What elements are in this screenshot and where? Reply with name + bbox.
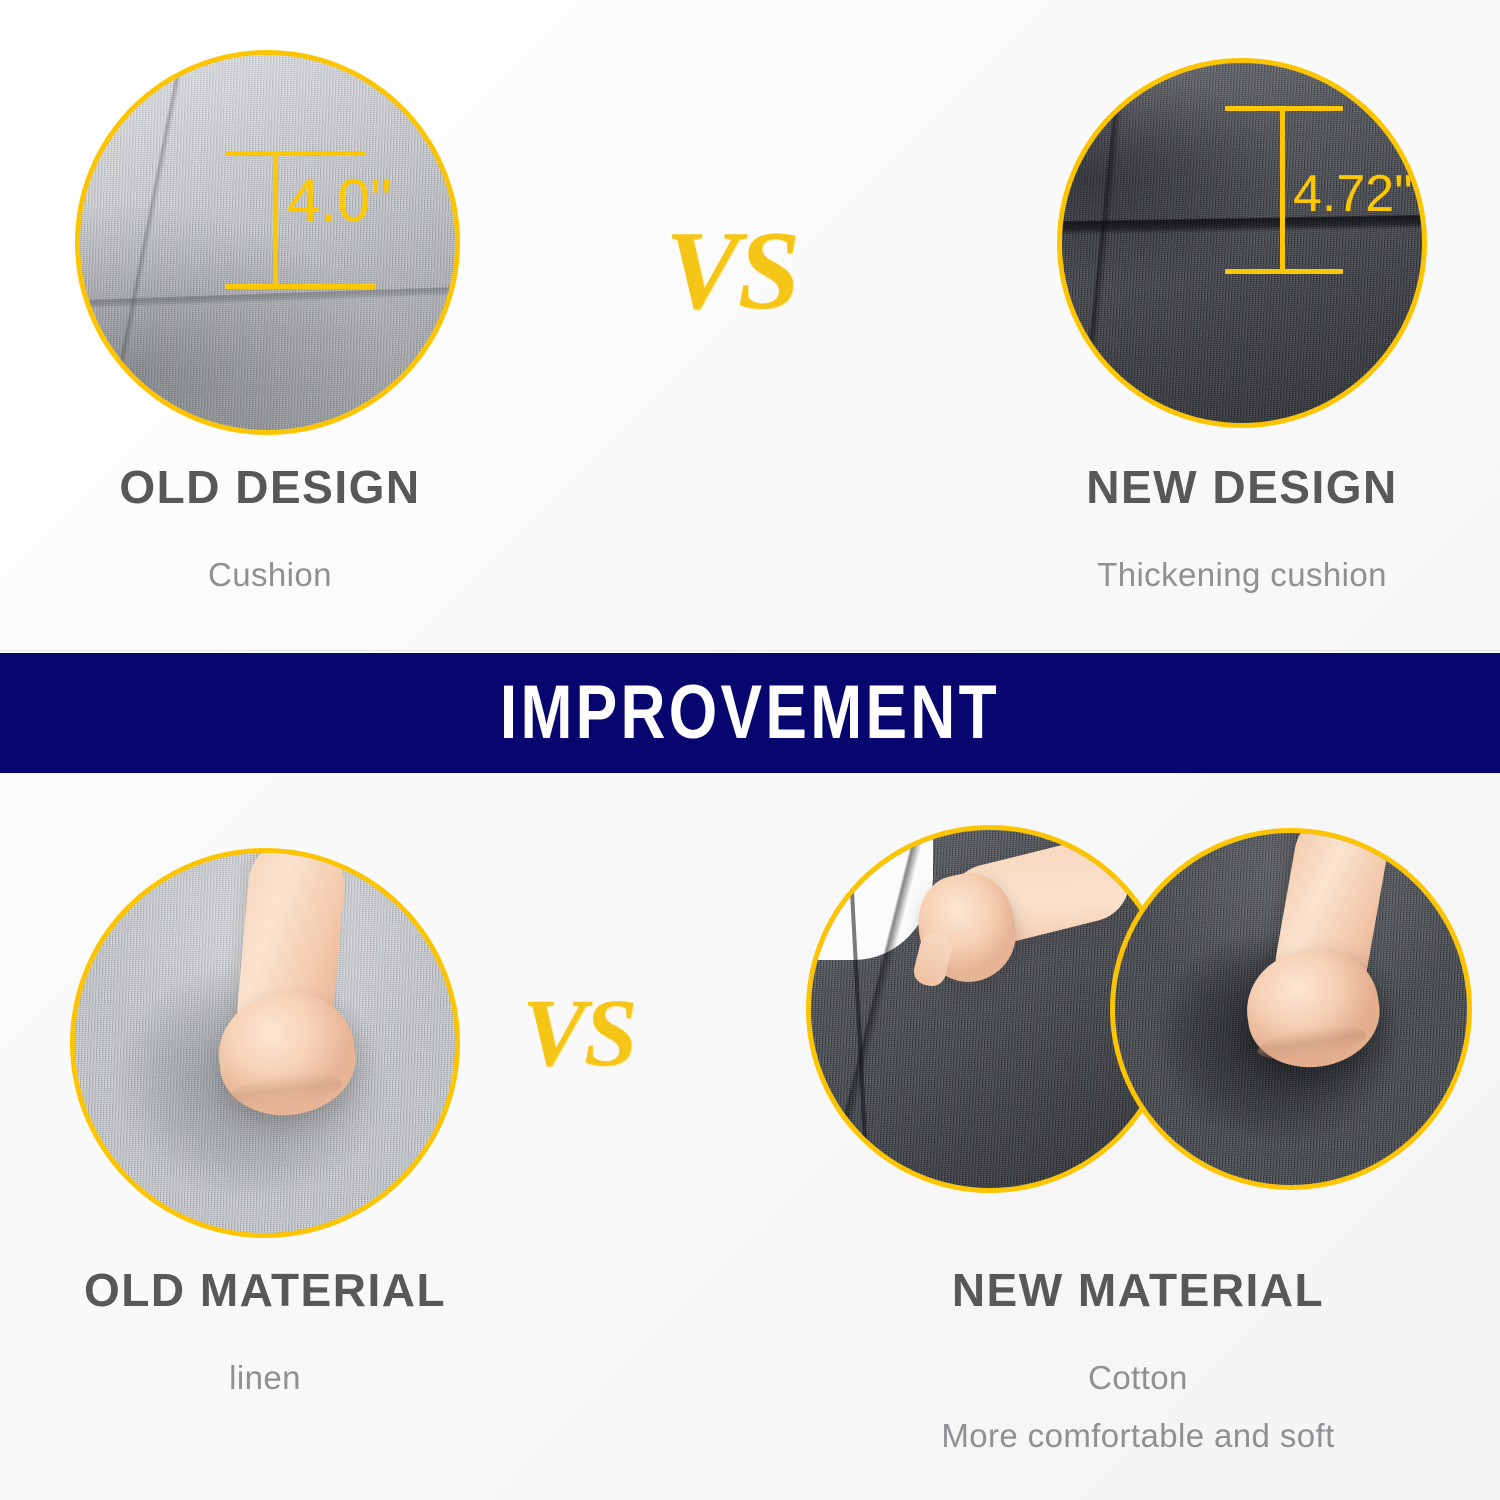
vs-label-material: VS [522,985,635,1081]
new-material-caption: NEW MATERIAL Cotton More comfortable and… [878,1265,1398,1459]
material-comparison-section: VS OLD MATERIAL linen [0,773,1500,1500]
improvement-banner: IMPROVEMENT [0,653,1500,773]
vs-label-design: VS [665,215,798,327]
improvement-banner-text: IMPROVEMENT [500,675,1000,751]
banner-top-divider [0,650,1500,651]
old-material-caption: OLD MATERIAL linen [25,1265,505,1400]
new-design-photo: 4.72" [1057,58,1427,428]
new-material-subtitle: Cotton [878,1356,1398,1401]
infographic-page: 4.0" VS 4.72" OLD DESIGN Cushion NEW DES… [0,0,1500,1500]
new-material-subtitle-2: More comfortable and soft [878,1414,1398,1459]
cushion-front-shadow [80,55,455,430]
cushion-seam-shadow [1062,63,1422,423]
new-design-title: NEW DESIGN [1012,462,1472,513]
old-design-subtitle: Cushion [45,553,495,598]
new-design-subtitle: Thickening cushion [1012,553,1472,598]
new-material-title: NEW MATERIAL [878,1265,1398,1316]
old-material-subtitle: linen [25,1356,505,1401]
old-design-caption: OLD DESIGN Cushion [45,462,495,597]
old-design-title: OLD DESIGN [45,462,495,513]
old-design-photo: 4.0" [75,50,460,435]
old-material-photo [70,848,460,1238]
new-material-photo-press [1110,828,1472,1190]
new-design-caption: NEW DESIGN Thickening cushion [1012,462,1472,597]
old-material-title: OLD MATERIAL [25,1265,505,1316]
design-comparison-section: 4.0" VS 4.72" OLD DESIGN Cushion NEW DES… [0,0,1500,652]
